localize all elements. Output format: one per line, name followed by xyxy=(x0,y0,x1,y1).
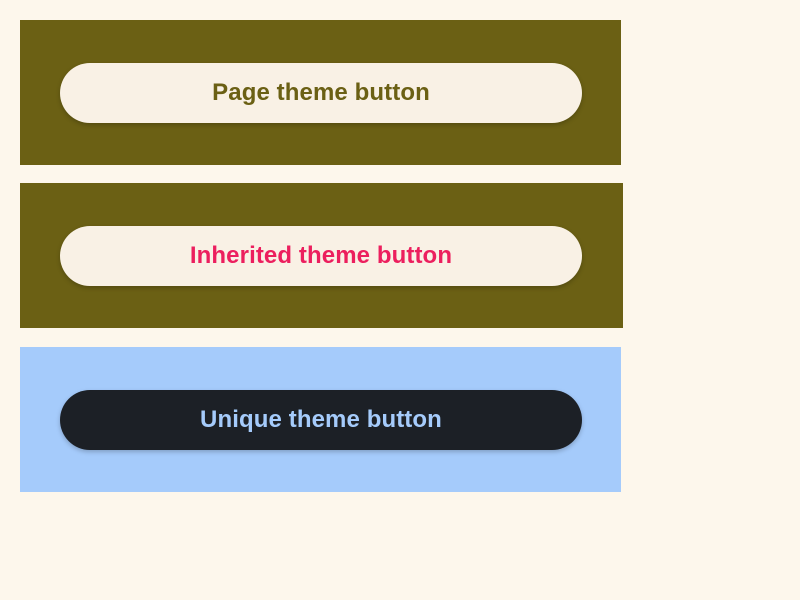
unique-theme-button[interactable]: Unique theme button xyxy=(60,390,582,450)
theme-surface-page-theme: Page theme button xyxy=(20,20,621,165)
inherited-theme-button[interactable]: Inherited theme button xyxy=(60,226,582,286)
theme-surface-inherited-theme: Inherited theme button xyxy=(20,183,623,328)
theme-surface-unique-theme: Unique theme button xyxy=(20,347,621,492)
page-root: Page theme button Inherited theme button… xyxy=(0,0,800,600)
page-theme-button[interactable]: Page theme button xyxy=(60,63,582,123)
